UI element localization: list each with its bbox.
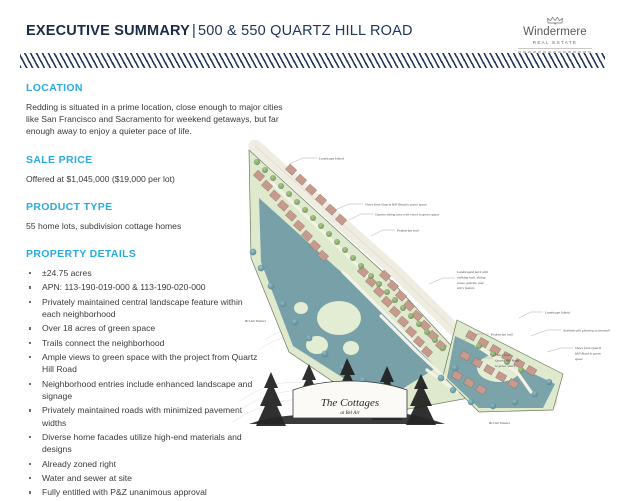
section-heading-location: LOCATION — [26, 82, 271, 94]
annotation-label-bel-air-left: Bel Air Estates — [245, 319, 267, 323]
parcel-north — [249, 150, 469, 414]
annotation-label-bel-air-bottom: Bel Air Estates — [489, 421, 511, 425]
annotation-label: Pedestrian trail — [396, 229, 419, 233]
annotation-label: Aesthetically pleasing screenwall — [562, 329, 610, 333]
list-item: Diverse home facades utilize high-end ma… — [26, 431, 258, 455]
crown-icon — [507, 16, 603, 25]
page-title-strong: EXECUTIVE SUMMARY — [26, 23, 190, 39]
page-title-separator: | — [190, 23, 198, 39]
list-item: Water and sewer at site — [26, 472, 258, 484]
annotation-label: Views from Quartz Hill Road to green spa… — [365, 203, 427, 207]
sign-subtitle: at Bel Air — [340, 411, 359, 416]
list-item: Privately maintained roads with minimize… — [26, 404, 258, 428]
executive-summary-page: EXECUTIVE SUMMARY|500 & 550 QUARTZ HILL … — [0, 0, 621, 480]
list-item: Trails connect the neighborhood — [26, 337, 258, 349]
list-item: Over 18 acres of green space — [26, 322, 258, 334]
logo-wordmark: Windermere — [507, 26, 603, 38]
list-item: ±24.75 acres — [26, 267, 258, 279]
sign-title: The Cottages — [321, 397, 379, 409]
list-item: Neighborhood entries include enhanced la… — [26, 378, 258, 402]
section-body-product-type: 55 home lots, subdivision cottage homes — [26, 220, 266, 232]
list-item: APN: 113-190-019-000 & 113-190-020-000 — [26, 281, 258, 293]
annotation-label: Gazebo sitting area with views to green … — [375, 213, 440, 217]
page-title: EXECUTIVE SUMMARY|500 & 550 QUARTZ HILL … — [26, 23, 413, 39]
list-item: Already zoned right — [26, 458, 258, 470]
logo-subtitle: REAL ESTATE — [507, 40, 603, 46]
list-item: Privately maintained central landscape f… — [26, 296, 258, 320]
annotation-label: Landscape Island — [318, 157, 344, 161]
diagonal-hatch-divider — [20, 53, 605, 68]
annotation-label: Landscape Island — [544, 311, 570, 315]
page-header: EXECUTIVE SUMMARY|500 & 550 QUARTZ HILL … — [0, 0, 621, 50]
site-plan-svg: Landscape Island Views from Quartz Hill … — [231, 140, 621, 430]
section-body-sale-price: Offered at $1,045,000 ($19,000 per lot) — [26, 173, 266, 185]
annotation-label-multiline: Landscaped park with walking trail, sitt… — [456, 270, 489, 290]
section-location: LOCATION Redding is situated in a prime … — [26, 82, 271, 138]
site-plan-rendering: Landscape Island Views from Quartz Hill … — [231, 140, 621, 430]
page-title-address: 500 & 550 QUARTZ HILL ROAD — [198, 23, 413, 39]
property-details-list: ±24.75 acres APN: 113-190-019-000 & 113-… — [26, 267, 258, 499]
annotation-label: Pedestrian trail — [490, 333, 513, 337]
list-item: Fully entitled with P&Z unanimous approv… — [26, 486, 258, 498]
list-item: Ample views to green space with the proj… — [26, 351, 258, 375]
logo-divider — [518, 48, 592, 49]
windermere-logo: Windermere REAL ESTATE — [507, 16, 603, 54]
section-body-location: Redding is situated in a prime location,… — [26, 101, 288, 138]
annotation-label-multiline: Views from Quartz Hill Road to green spa… — [574, 346, 602, 361]
